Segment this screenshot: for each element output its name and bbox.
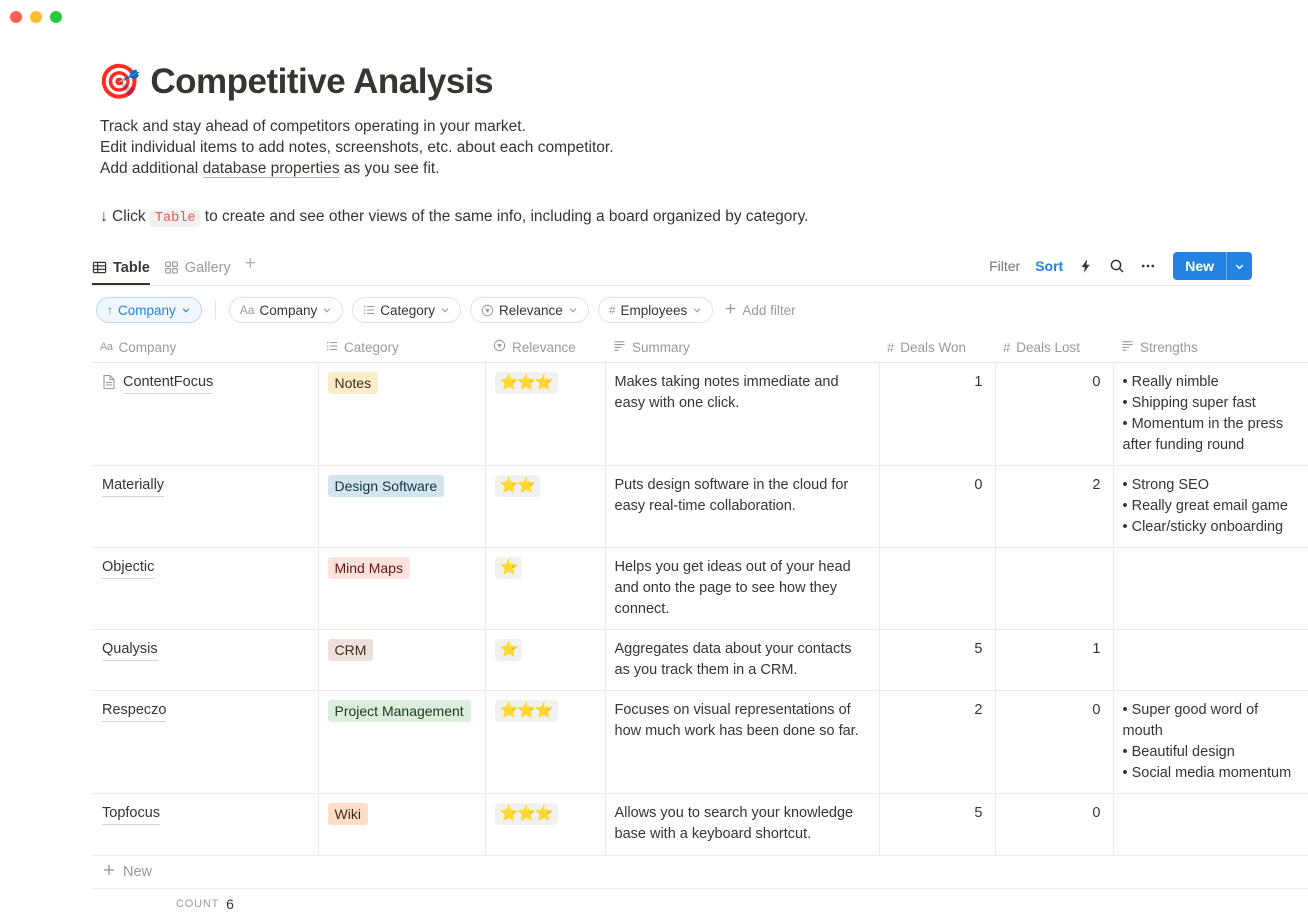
database-table: Aa Company Category (92, 332, 1308, 856)
add-filter-label: Add filter (742, 303, 795, 318)
chevron-down-icon[interactable] (1226, 252, 1252, 280)
description-line-2: Edit individual items to add notes, scre… (100, 137, 1308, 158)
sort-chip-label: Company (118, 303, 176, 318)
text-icon: Aa (240, 303, 255, 317)
strength-item: • Clear/sticky onboarding (1123, 517, 1300, 538)
column-header-deals-lost-label: Deals Lost (1016, 340, 1080, 355)
category-tag[interactable]: Project Management (328, 700, 471, 722)
column-header-deals-won-label: Deals Won (900, 340, 966, 355)
select-icon (326, 340, 338, 355)
table-icon (92, 260, 107, 275)
cell-deals-won[interactable] (879, 548, 995, 630)
cell-company[interactable]: ContentFocus (92, 363, 318, 466)
column-header-relevance-label: Relevance (512, 340, 576, 355)
description-line-1: Track and stay ahead of competitors oper… (100, 116, 1308, 137)
table-row[interactable]: QualysisCRM⭐Aggregates data about your c… (92, 630, 1308, 691)
cell-deals-won[interactable]: 5 (879, 794, 995, 856)
new-button[interactable]: New (1173, 252, 1252, 280)
lightning-icon[interactable] (1078, 258, 1094, 274)
view-tabs: Table Gallery + (92, 250, 256, 285)
column-header-category-label: Category (344, 340, 399, 355)
strength-item: • Really nimble (1123, 372, 1300, 393)
window-titlebar (0, 0, 1308, 40)
tab-gallery[interactable]: Gallery (164, 250, 231, 285)
sort-button[interactable]: Sort (1035, 258, 1063, 274)
column-header-company-label: Company (118, 340, 176, 355)
company-name[interactable]: Materially (102, 475, 164, 497)
cell-strengths[interactable]: • Really nimble• Shipping super fast• Mo… (1113, 363, 1308, 466)
table-row[interactable]: TopfocusWiki⭐⭐⭐Allows you to search your… (92, 794, 1308, 856)
cell-summary[interactable]: Allows you to search your knowledge base… (605, 794, 879, 856)
new-button-label: New (1173, 252, 1226, 280)
chevron-down-icon (692, 305, 702, 315)
cell-strengths[interactable] (1113, 548, 1308, 630)
plus-icon (724, 302, 737, 318)
sort-chip-company[interactable]: ↑ Company (96, 297, 202, 323)
table-body: ContentFocusNotes⭐⭐⭐Makes taking notes i… (92, 363, 1308, 856)
relevance-stars[interactable]: ⭐⭐⭐ (495, 700, 558, 722)
relevance-stars[interactable]: ⭐⭐ (495, 475, 540, 497)
cell-strengths[interactable] (1113, 630, 1308, 691)
number-icon: # (609, 303, 616, 317)
chevron-down-icon (568, 305, 578, 315)
text-icon: Aa (100, 341, 112, 353)
filter-button[interactable]: Filter (989, 258, 1020, 274)
cell-strengths[interactable]: • Super good word of mouth• Beautiful de… (1113, 691, 1308, 794)
text-multi-icon (1121, 339, 1134, 355)
callout-text: ↓ Click Table to create and see other vi… (0, 206, 1308, 229)
company-name[interactable]: Qualysis (102, 639, 158, 661)
count-value: 6 (226, 896, 234, 912)
search-icon[interactable] (1109, 258, 1125, 274)
cell-deals-won[interactable]: 5 (879, 630, 995, 691)
ellipsis-icon[interactable] (1140, 258, 1156, 274)
column-header-company[interactable]: Aa Company (92, 332, 318, 363)
page-header: 🎯 Competitive Analysis (0, 62, 1308, 102)
relevance-stars[interactable]: ⭐⭐⭐ (495, 803, 558, 825)
table-row[interactable]: ObjecticMind Maps⭐Helps you get ideas ou… (92, 548, 1308, 630)
callout-prefix: ↓ Click (100, 208, 150, 225)
table-row[interactable]: ContentFocusNotes⭐⭐⭐Makes taking notes i… (92, 363, 1308, 466)
column-header-relevance[interactable]: Relevance (485, 332, 605, 363)
cell-company[interactable]: Topfocus (92, 794, 318, 856)
strength-item: • Really great email game (1123, 496, 1300, 517)
cell-relevance[interactable]: ⭐ (485, 548, 605, 630)
cell-summary[interactable]: Focuses on visual representations of how… (605, 691, 879, 794)
chevron-down-icon (440, 305, 450, 315)
view-actions: Filter Sort New (989, 252, 1252, 285)
cell-deals-won[interactable]: 0 (879, 466, 995, 548)
filter-chip-company[interactable]: Aa Company (229, 297, 343, 323)
filter-chip-company-label: Company (259, 303, 317, 318)
filter-chip-employees-label: Employees (621, 303, 688, 318)
cell-deals-won[interactable]: 1 (879, 363, 995, 466)
relevance-stars[interactable]: ⭐ (495, 557, 523, 579)
cell-company[interactable]: Qualysis (92, 630, 318, 691)
target-emoji-icon: 🎯 (98, 65, 140, 99)
tab-gallery-label: Gallery (185, 260, 231, 276)
column-header-deals-lost[interactable]: # Deals Lost (995, 332, 1113, 363)
column-header-category[interactable]: Category (318, 332, 485, 363)
tab-table-label: Table (113, 260, 150, 276)
filter-chip-bar: ↑ Company Aa Company Category (96, 297, 1308, 323)
number-icon: # (887, 340, 894, 355)
category-tag[interactable]: Mind Maps (328, 557, 410, 579)
column-header-strengths-label: Strengths (1140, 340, 1198, 355)
cell-relevance[interactable]: ⭐⭐ (485, 466, 605, 548)
callout-suffix: to create and see other views of the sam… (200, 208, 808, 225)
column-header-strengths[interactable]: Strengths (1113, 332, 1308, 363)
database-properties-link[interactable]: database properties (203, 160, 340, 178)
category-tag[interactable]: Notes (328, 372, 379, 394)
cell-company[interactable]: Objectic (92, 548, 318, 630)
cell-summary[interactable]: Makes taking notes immediate and easy wi… (605, 363, 879, 466)
cell-deals-lost[interactable] (995, 548, 1113, 630)
cell-deals-lost[interactable]: 0 (995, 794, 1113, 856)
window-close-button[interactable] (10, 11, 22, 23)
window-zoom-button[interactable] (50, 11, 62, 23)
column-header-summary[interactable]: Summary (605, 332, 879, 363)
cell-category[interactable]: Notes (318, 363, 485, 466)
cell-summary[interactable]: Puts design software in the cloud for ea… (605, 466, 879, 548)
company-name[interactable]: Respeczo (102, 700, 166, 722)
new-row-label: New (123, 864, 152, 880)
relevance-stars[interactable]: ⭐⭐⭐ (495, 372, 558, 394)
cell-relevance[interactable]: ⭐⭐⭐ (485, 363, 605, 466)
category-tag[interactable]: CRM (328, 639, 374, 661)
plus-icon (102, 863, 116, 881)
category-tag[interactable]: Wiki (328, 803, 368, 825)
cell-deals-lost[interactable]: 0 (995, 691, 1113, 794)
cell-summary[interactable]: Helps you get ideas out of your head and… (605, 548, 879, 630)
description-line-3: Add additional database properties as yo… (100, 158, 1308, 179)
select-icon (363, 304, 375, 316)
strength-item: • Social media momentum (1123, 763, 1300, 784)
cell-category[interactable]: Design Software (318, 466, 485, 548)
view-toolbar: Table Gallery + Filter Sort (92, 251, 1252, 286)
strength-item: • Strong SEO (1123, 475, 1300, 496)
filter-chip-category-label: Category (380, 303, 435, 318)
filter-chip-employees[interactable]: # Employees (598, 297, 713, 323)
company-name[interactable]: ContentFocus (123, 372, 213, 394)
count-summary[interactable]: COUNT 6 (92, 889, 318, 919)
cell-category[interactable]: Mind Maps (318, 548, 485, 630)
add-view-button[interactable]: + (245, 254, 256, 282)
table-header-row: Aa Company Category (92, 332, 1308, 363)
relevance-stars[interactable]: ⭐ (495, 639, 523, 661)
filter-chip-relevance[interactable]: Relevance (470, 297, 589, 323)
cell-strengths[interactable]: • Strong SEO• Really great email game• C… (1113, 466, 1308, 548)
cell-category[interactable]: CRM (318, 630, 485, 691)
cell-company[interactable]: Materially (92, 466, 318, 548)
cell-deals-lost[interactable]: 0 (995, 363, 1113, 466)
table-row[interactable]: RespeczoProject Management⭐⭐⭐Focuses on … (92, 691, 1308, 794)
strength-item: • Shipping super fast (1123, 393, 1300, 414)
text-multi-icon (613, 339, 626, 355)
strength-item: • Super good word of mouth (1123, 700, 1300, 742)
page-title: Competitive Analysis (150, 62, 493, 102)
cell-strengths[interactable] (1113, 794, 1308, 856)
arrow-up-icon: ↑ (107, 303, 113, 317)
number-icon: # (1003, 340, 1010, 355)
company-name[interactable]: Objectic (102, 557, 154, 579)
status-icon (481, 304, 494, 317)
filter-chip-relevance-label: Relevance (499, 303, 563, 318)
add-filter-button[interactable]: Add filter (724, 302, 795, 318)
strength-item: • Beautiful design (1123, 742, 1300, 763)
cell-relevance[interactable]: ⭐ (485, 630, 605, 691)
chevron-down-icon (322, 305, 332, 315)
cell-deals-lost[interactable]: 1 (995, 630, 1113, 691)
description-line-3-post: as you see fit. (340, 160, 440, 177)
count-label: COUNT (176, 898, 219, 910)
cell-deals-won[interactable]: 2 (879, 691, 995, 794)
cell-relevance[interactable]: ⭐⭐⭐ (485, 691, 605, 794)
status-icon (493, 339, 506, 355)
column-header-deals-won[interactable]: # Deals Won (879, 332, 995, 363)
category-tag[interactable]: Design Software (328, 475, 445, 497)
company-name[interactable]: Topfocus (102, 803, 160, 825)
cell-relevance[interactable]: ⭐⭐⭐ (485, 794, 605, 856)
column-header-summary-label: Summary (632, 340, 690, 355)
table-row[interactable]: MateriallyDesign Software⭐⭐Puts design s… (92, 466, 1308, 548)
cell-deals-lost[interactable]: 2 (995, 466, 1113, 548)
cell-company[interactable]: Respeczo (92, 691, 318, 794)
gallery-icon (164, 260, 179, 275)
cell-category[interactable]: Wiki (318, 794, 485, 856)
page-icon (102, 374, 116, 397)
filter-chip-category[interactable]: Category (352, 297, 461, 323)
new-row-button[interactable]: New (92, 856, 1308, 889)
description-line-3-pre: Add additional (100, 160, 203, 177)
tab-table[interactable]: Table (92, 250, 150, 285)
page-content: 🎯 Competitive Analysis Track and stay ah… (0, 40, 1308, 919)
chevron-down-icon (181, 305, 191, 315)
page-description: Track and stay ahead of competitors oper… (0, 116, 1308, 179)
chip-divider (215, 301, 216, 319)
cell-summary[interactable]: Aggregates data about your contacts as y… (605, 630, 879, 691)
window-minimize-button[interactable] (30, 11, 42, 23)
strength-item: • Momentum in the press after funding ro… (1123, 414, 1300, 456)
inline-code-table: Table (150, 210, 201, 227)
cell-category[interactable]: Project Management (318, 691, 485, 794)
